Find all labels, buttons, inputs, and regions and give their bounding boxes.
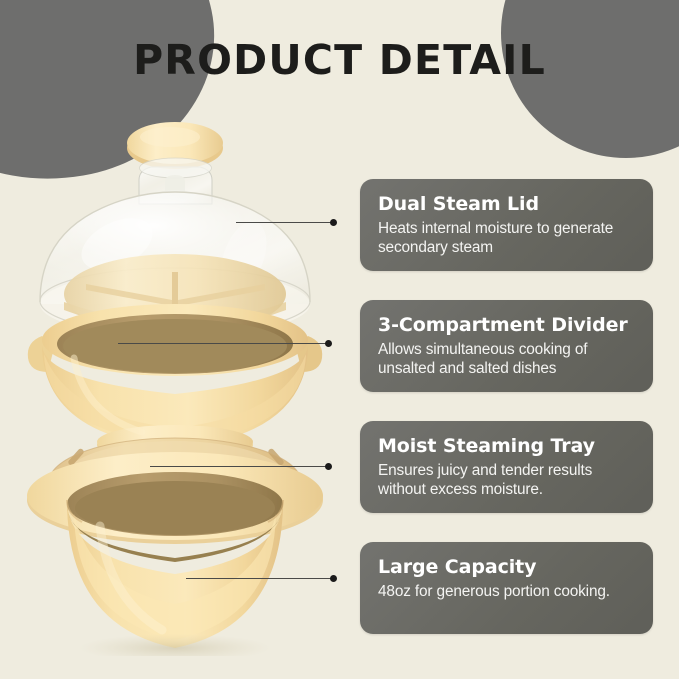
feature-title: Dual Steam Lid bbox=[378, 193, 636, 215]
feature-description: 48oz for generous portion cooking. bbox=[378, 582, 636, 601]
feature-description: Allows simultaneous cooking of unsalted … bbox=[378, 340, 636, 379]
feature-card-dual-steam-lid: Dual Steam Lid Heats internal moisture t… bbox=[360, 179, 653, 271]
page-title: PRODUCT DETAIL bbox=[0, 36, 679, 84]
feature-card-large-capacity: Large Capacity 48oz for generous portion… bbox=[360, 542, 653, 634]
feature-card-three-compartment-divider: 3-Compartment Divider Allows simultaneou… bbox=[360, 300, 653, 392]
feature-title: Large Capacity bbox=[378, 556, 636, 578]
feature-card-moist-steaming-tray: Moist Steaming Tray Ensures juicy and te… bbox=[360, 421, 653, 513]
feature-title: Moist Steaming Tray bbox=[378, 435, 636, 457]
bottom-bowl-part bbox=[27, 452, 323, 648]
product-illustration bbox=[22, 96, 342, 656]
feature-description: Heats internal moisture to generate seco… bbox=[378, 219, 636, 258]
feature-title: 3-Compartment Divider bbox=[378, 314, 636, 336]
product-shadow bbox=[79, 634, 271, 656]
feature-description: Ensures juicy and tender results without… bbox=[378, 461, 636, 500]
product-detail-poster: PRODUCT DETAIL bbox=[0, 0, 679, 679]
